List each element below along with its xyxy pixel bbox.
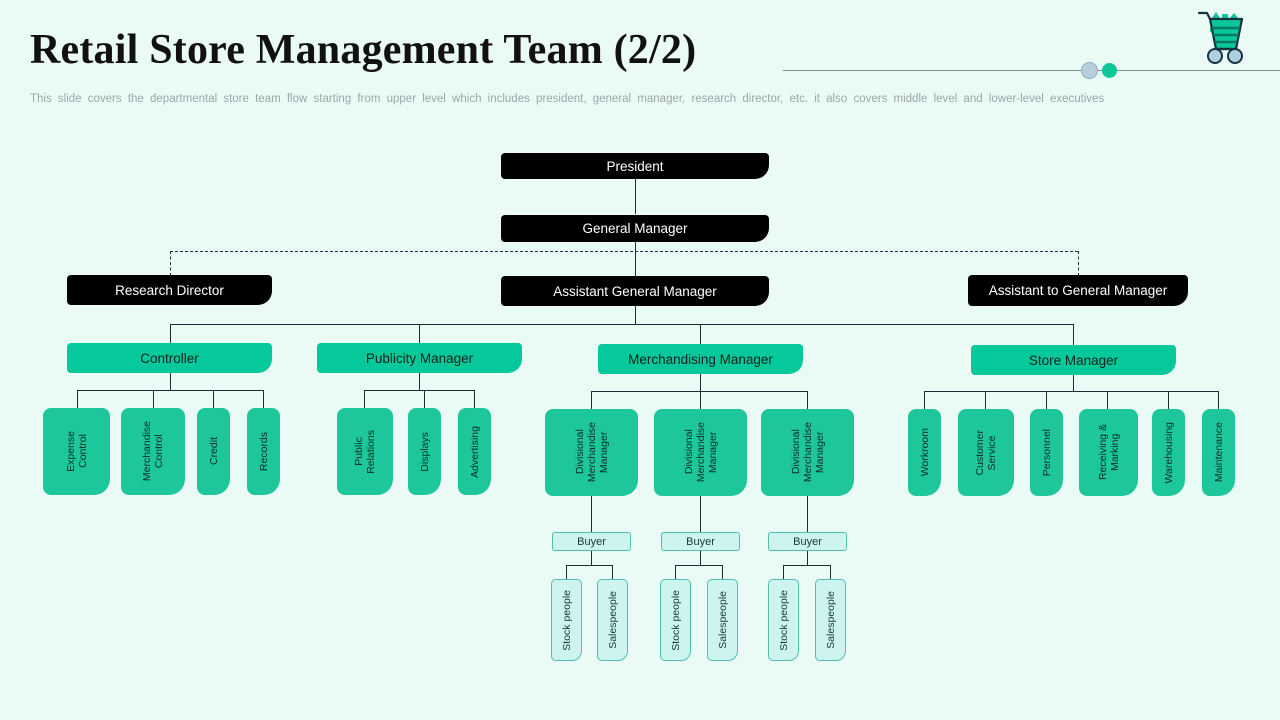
node-label: Salespeople <box>825 591 837 649</box>
connector-publicity-down <box>419 373 420 390</box>
node-buyer-3[interactable]: Buyer <box>768 532 847 551</box>
node-divisional-merchandise-manager-1[interactable]: Divisional Merchandise Manager <box>545 409 638 496</box>
connector-buyer2-c2 <box>722 565 723 579</box>
node-label: Merchandising Manager <box>628 352 773 367</box>
node-label: Assistant to General Manager <box>989 283 1168 298</box>
node-label: President <box>606 159 663 174</box>
node-label: Workroom <box>919 428 931 476</box>
node-workroom[interactable]: Workroom <box>908 409 941 496</box>
node-displays[interactable]: Displays <box>408 408 441 495</box>
slide-canvas: Retail Store Management Team (2/2) This … <box>0 0 1280 720</box>
node-label: Personnel <box>1041 429 1053 476</box>
decorative-dot-green <box>1102 63 1117 78</box>
page-title: Retail Store Management Team (2/2) <box>30 26 696 74</box>
node-label: Controller <box>140 351 199 366</box>
node-label: Merchandise Control <box>141 421 165 481</box>
connector-buyer2-down <box>700 551 701 565</box>
connector-buyer2-bus <box>675 565 722 566</box>
node-label: General Manager <box>582 221 687 236</box>
node-label: Buyer <box>793 536 822 548</box>
connector-merch-c2 <box>700 391 701 409</box>
node-publicity-manager[interactable]: Publicity Manager <box>317 343 522 373</box>
node-label: Publicity Manager <box>366 351 473 366</box>
connector-drop-store <box>1073 324 1074 345</box>
connector-publicity-c2 <box>424 390 425 408</box>
connector-store-c3 <box>1046 391 1047 409</box>
connector-controller-c2 <box>153 390 154 408</box>
connector-controller-down <box>170 373 171 390</box>
node-label: Research Director <box>115 283 224 298</box>
connector-gm-agm <box>635 242 636 276</box>
node-customer-service[interactable]: Customer Service <box>958 409 1014 496</box>
node-merchandise-control[interactable]: Merchandise Control <box>121 408 185 495</box>
node-controller[interactable]: Controller <box>67 343 272 373</box>
shopping-cart-icon <box>1178 8 1250 70</box>
connector-buyer1-c2 <box>612 565 613 579</box>
connector-store-c4 <box>1107 391 1108 409</box>
node-label: Assistant General Manager <box>553 284 717 299</box>
node-records[interactable]: Records <box>247 408 280 495</box>
node-label: Buyer <box>577 536 606 548</box>
node-divisional-merchandise-manager-3[interactable]: Divisional Merchandise Manager <box>761 409 854 496</box>
connector-merch-down <box>700 374 701 391</box>
node-assistant-general-manager[interactable]: Assistant General Manager <box>501 276 769 306</box>
node-expense-control[interactable]: Expense Control <box>43 408 110 495</box>
node-label: Stock people <box>561 590 573 651</box>
connector-drop-controller <box>170 324 171 344</box>
connector-div3-buyer <box>807 495 808 532</box>
connector-agm-down <box>635 306 636 324</box>
node-label: Divisional Merchandise Manager <box>790 422 826 482</box>
node-salespeople-2[interactable]: Salespeople <box>707 579 738 661</box>
connector-store-bus <box>924 391 1218 392</box>
node-assistant-to-general-manager[interactable]: Assistant to General Manager <box>968 275 1188 306</box>
node-maintenance[interactable]: Maintenance <box>1202 409 1235 496</box>
node-salespeople-3[interactable]: Salespeople <box>815 579 846 661</box>
connector-buyer1-c1 <box>566 565 567 579</box>
connector-controller-c3 <box>213 390 214 408</box>
connector-drop-merchandising <box>700 324 701 344</box>
node-research-director[interactable]: Research Director <box>67 275 272 305</box>
connector-drop-publicity <box>419 324 420 344</box>
node-label: Public Relations <box>353 430 377 474</box>
node-warehousing[interactable]: Warehousing <box>1152 409 1185 496</box>
connector-buyer3-c1 <box>783 565 784 579</box>
connector-buyer1-down <box>591 551 592 565</box>
connector-publicity-bus <box>364 390 475 391</box>
connector-controller-c4 <box>263 390 264 408</box>
connector-buyer3-c2 <box>830 565 831 579</box>
node-store-manager[interactable]: Store Manager <box>971 345 1176 375</box>
connector-merch-c3 <box>807 391 808 409</box>
node-label: Stock people <box>778 590 790 651</box>
connector-dashed-bus <box>170 251 1078 252</box>
connector-dashed-left-drop <box>170 251 171 276</box>
node-buyer-1[interactable]: Buyer <box>552 532 631 551</box>
node-credit[interactable]: Credit <box>197 408 230 495</box>
connector-div1-buyer <box>591 495 592 532</box>
node-salespeople-1[interactable]: Salespeople <box>597 579 628 661</box>
node-label: Buyer <box>686 536 715 548</box>
connector-buyer3-bus <box>783 565 830 566</box>
connector-div2-buyer <box>700 495 701 532</box>
node-label: Credit <box>208 437 220 465</box>
connector-president-gm <box>635 179 636 214</box>
connector-store-down <box>1073 375 1074 391</box>
node-divisional-merchandise-manager-2[interactable]: Divisional Merchandise Manager <box>654 409 747 496</box>
page-subtitle: This slide covers the departmental store… <box>30 93 1190 105</box>
node-advertising[interactable]: Advertising <box>458 408 491 495</box>
connector-store-c1 <box>924 391 925 409</box>
node-buyer-2[interactable]: Buyer <box>661 532 740 551</box>
decorative-dot-gray <box>1081 62 1098 79</box>
node-label: Maintenance <box>1213 422 1225 482</box>
connector-publicity-c3 <box>474 390 475 408</box>
node-stock-people-3[interactable]: Stock people <box>768 579 799 661</box>
node-label: Records <box>258 432 270 471</box>
node-stock-people-2[interactable]: Stock people <box>660 579 691 661</box>
node-label: Salespeople <box>607 591 619 649</box>
connector-publicity-c1 <box>364 390 365 408</box>
node-label: Warehousing <box>1163 422 1175 483</box>
node-president[interactable]: President <box>501 153 769 179</box>
connector-buyer1-bus <box>566 565 612 566</box>
node-label: Store Manager <box>1029 353 1118 368</box>
node-label: Salespeople <box>717 591 729 649</box>
node-label: Divisional Merchandise Manager <box>683 422 719 482</box>
connector-store-c2 <box>985 391 986 409</box>
connector-store-c5 <box>1168 391 1169 409</box>
node-label: Stock people <box>670 590 682 651</box>
node-stock-people-1[interactable]: Stock people <box>551 579 582 661</box>
node-label: Expense Control <box>65 431 89 472</box>
node-general-manager[interactable]: General Manager <box>501 215 769 242</box>
node-label: Receiving & Marking <box>1097 424 1121 480</box>
node-personnel[interactable]: Personnel <box>1030 409 1063 496</box>
connector-dashed-right-drop <box>1078 251 1079 276</box>
node-label: Displays <box>419 432 431 472</box>
connector-buyer3-down <box>807 551 808 565</box>
title-underline-rule <box>783 70 1280 71</box>
connector-buyer2-c1 <box>675 565 676 579</box>
connector-merch-c1 <box>591 391 592 409</box>
node-merchandising-manager[interactable]: Merchandising Manager <box>598 344 803 374</box>
node-receiving-marking[interactable]: Receiving & Marking <box>1079 409 1138 496</box>
node-public-relations[interactable]: Public Relations <box>337 408 393 495</box>
connector-controller-c1 <box>77 390 78 408</box>
connector-manager-bus <box>170 324 1074 325</box>
node-label: Divisional Merchandise Manager <box>574 422 610 482</box>
node-label: Customer Service <box>974 430 998 476</box>
node-label: Advertising <box>469 426 481 478</box>
connector-controller-bus <box>77 390 264 391</box>
connector-store-c6 <box>1218 391 1219 409</box>
